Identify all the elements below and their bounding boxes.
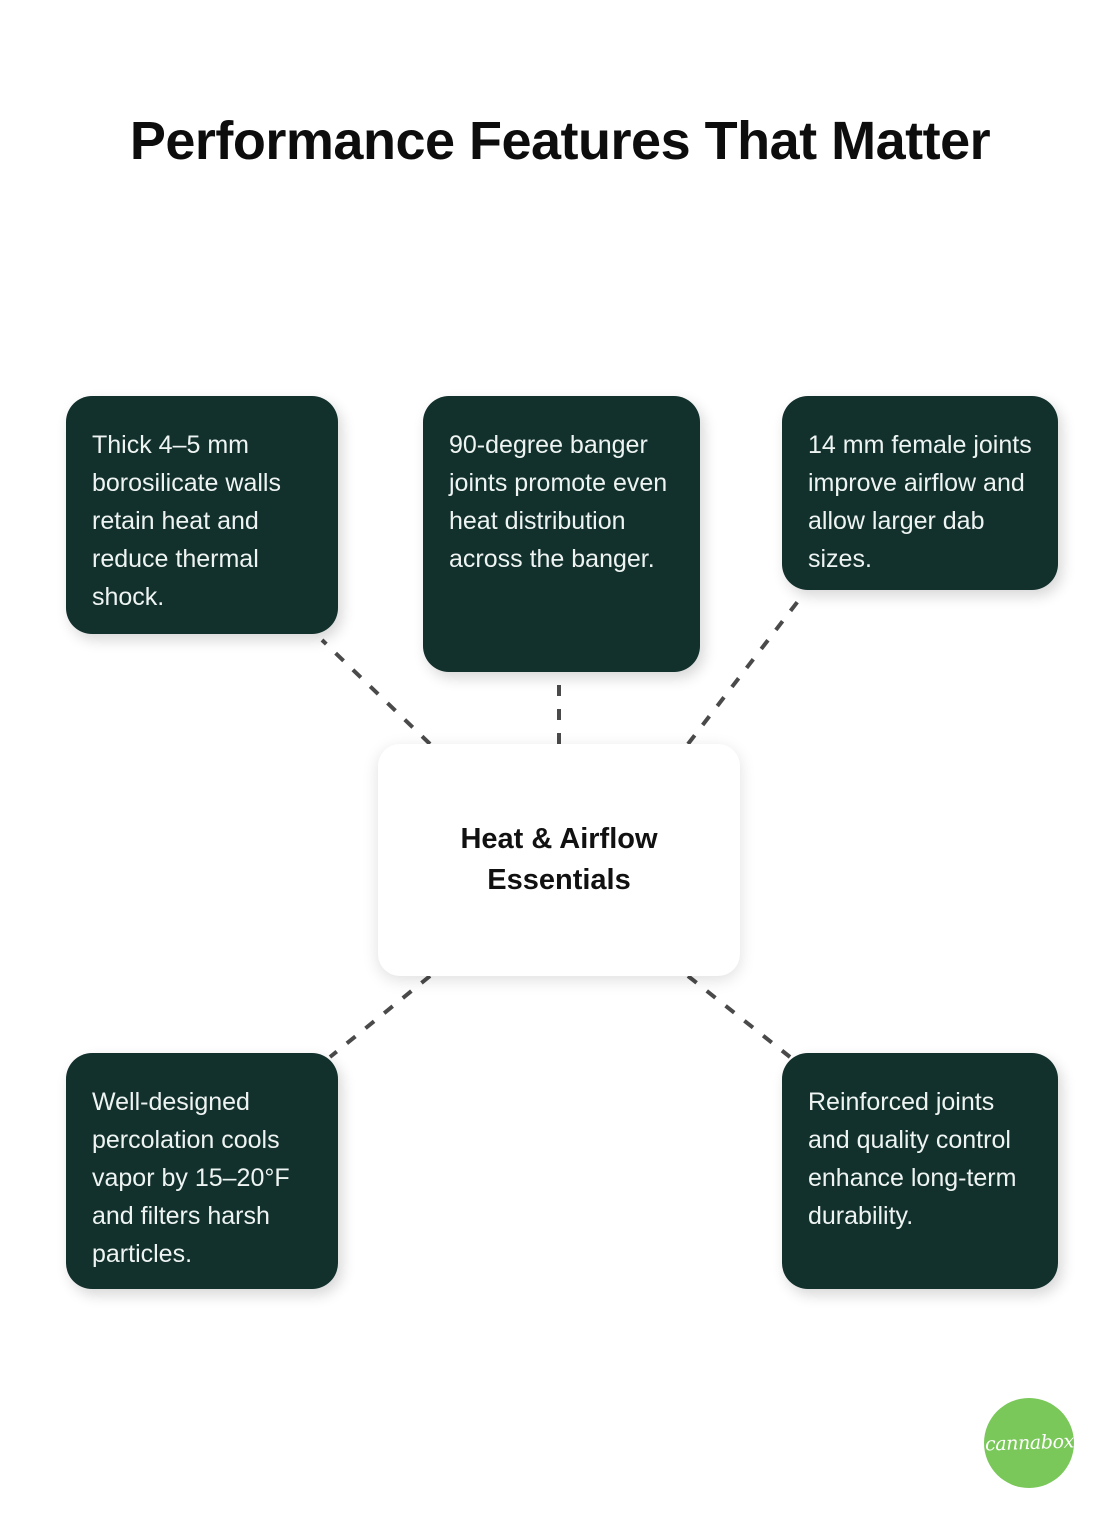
feature-card-percolation[interactable]: Well-designed percolation cools vapor by… bbox=[66, 1053, 338, 1289]
feature-card-durability[interactable]: Reinforced joints and quality control en… bbox=[782, 1053, 1058, 1289]
center-node-label: Heat & Airflow Essentials bbox=[460, 819, 657, 900]
page-title: Performance Features That Matter bbox=[90, 108, 1030, 176]
feature-card-text: Well-designed percolation cools vapor by… bbox=[92, 1083, 312, 1273]
feature-card-female-joints[interactable]: 14 mm female joints improve airflow and … bbox=[782, 396, 1058, 590]
infographic-canvas: Performance Features That Matter Thick 4… bbox=[0, 0, 1120, 1532]
connector-hub-to-card-4 bbox=[688, 976, 790, 1057]
feature-card-banger-joints[interactable]: 90-degree banger joints promote even hea… bbox=[423, 396, 700, 672]
feature-card-text: Reinforced joints and quality control en… bbox=[808, 1083, 1032, 1235]
feature-card-text: 90-degree banger joints promote even hea… bbox=[449, 426, 674, 578]
cannabox-logo-text: cannabox bbox=[984, 1430, 1074, 1455]
connector-hub-to-card-2 bbox=[688, 596, 802, 744]
feature-card-thick-walls[interactable]: Thick 4–5 mm borosilicate walls retain h… bbox=[66, 396, 338, 634]
feature-card-text: Thick 4–5 mm borosilicate walls retain h… bbox=[92, 426, 312, 616]
cannabox-logo[interactable]: cannabox bbox=[984, 1398, 1074, 1488]
connector-hub-to-card-3 bbox=[330, 976, 430, 1057]
feature-card-text: 14 mm female joints improve airflow and … bbox=[808, 426, 1032, 578]
center-node[interactable]: Heat & Airflow Essentials bbox=[378, 744, 740, 976]
connector-hub-to-card-0 bbox=[322, 640, 430, 744]
